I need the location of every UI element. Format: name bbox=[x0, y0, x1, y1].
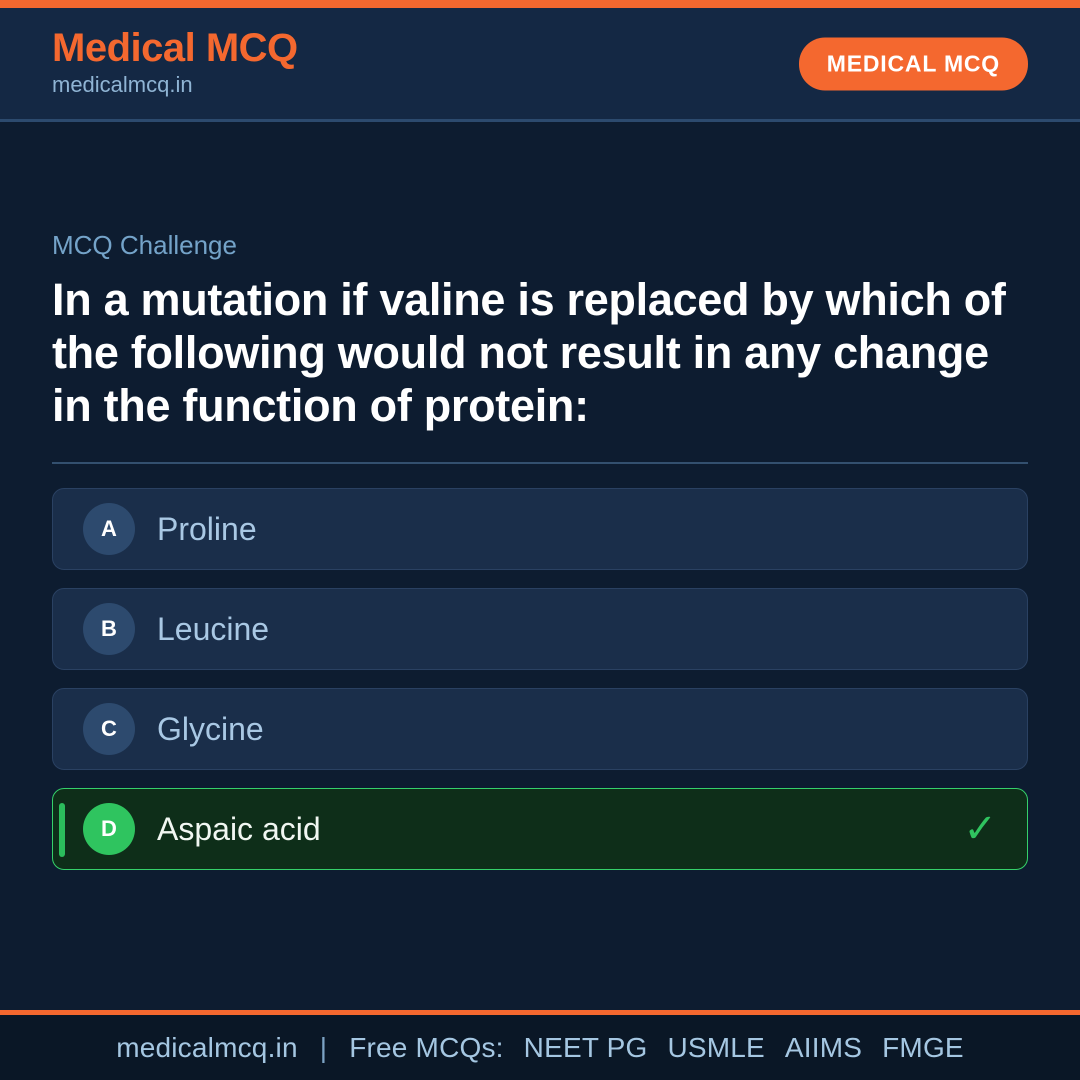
option-label: Aspaic acid bbox=[157, 812, 321, 847]
question-divider bbox=[52, 462, 1028, 464]
question-text: In a mutation if valine is replaced by w… bbox=[52, 273, 1028, 432]
brand-subtitle: medicalmcq.in bbox=[52, 71, 298, 100]
correct-accent-bar bbox=[59, 803, 65, 857]
top-accent-rule bbox=[0, 0, 1080, 8]
footer-exam-1: USMLE bbox=[655, 1032, 764, 1063]
footer-site: medicalmcq.in bbox=[116, 1032, 298, 1063]
mcq-card: Medical MCQ medicalmcq.in MEDICAL MCQ MC… bbox=[0, 0, 1080, 1080]
option-row-b[interactable]: BLeucine✓ bbox=[52, 588, 1028, 670]
question-area: MCQ Challenge In a mutation if valine is… bbox=[0, 122, 1080, 1010]
brand-block: Medical MCQ medicalmcq.in bbox=[52, 27, 298, 100]
option-row-d[interactable]: DAspaic acid✓ bbox=[52, 788, 1028, 870]
option-letter-badge: B bbox=[83, 603, 135, 655]
footer-separator: | bbox=[306, 1032, 341, 1063]
footer-label: Free MCQs: bbox=[349, 1032, 503, 1063]
option-row-c[interactable]: CGlycine✓ bbox=[52, 688, 1028, 770]
header-bar: Medical MCQ medicalmcq.in MEDICAL MCQ bbox=[0, 8, 1080, 122]
brand-title: Medical MCQ bbox=[52, 27, 298, 69]
footer-exam-2: AIIMS bbox=[773, 1032, 862, 1063]
option-label: Proline bbox=[157, 512, 257, 547]
option-letter-badge: A bbox=[83, 503, 135, 555]
section-eyebrow: MCQ Challenge bbox=[52, 230, 1028, 261]
option-row-a[interactable]: AProline✓ bbox=[52, 488, 1028, 570]
footer-bar: medicalmcq.in | Free MCQs: NEET PG USMLE… bbox=[0, 1015, 1080, 1080]
brand-badge: MEDICAL MCQ bbox=[799, 37, 1028, 90]
footer-exam-0: NEET PG bbox=[512, 1032, 648, 1063]
footer-exam-3: FMGE bbox=[870, 1032, 964, 1063]
footer-wrap: medicalmcq.in | Free MCQs: NEET PG USMLE… bbox=[0, 1010, 1080, 1080]
option-label: Glycine bbox=[157, 712, 264, 747]
correct-check-icon: ✓ bbox=[963, 809, 997, 849]
options-list: AProline✓BLeucine✓CGlycine✓DAspaic acid✓ bbox=[52, 488, 1028, 870]
option-letter-badge: D bbox=[83, 803, 135, 855]
option-label: Leucine bbox=[157, 612, 269, 647]
footer-text: medicalmcq.in | Free MCQs: NEET PG USMLE… bbox=[116, 1032, 964, 1064]
option-letter-badge: C bbox=[83, 703, 135, 755]
